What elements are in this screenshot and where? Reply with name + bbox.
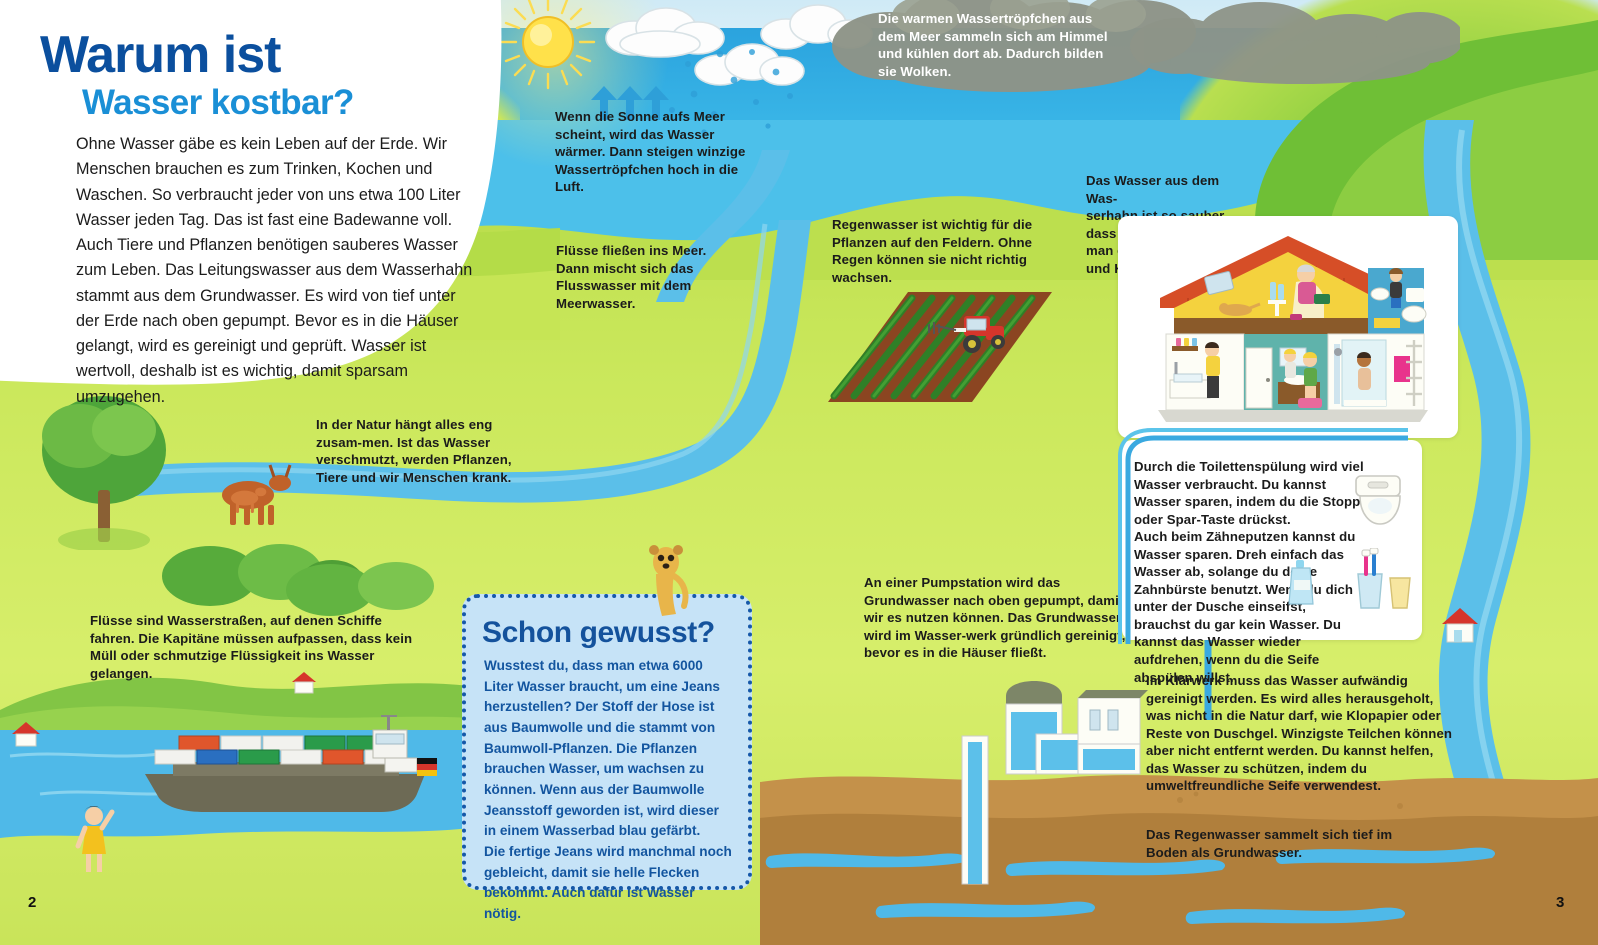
book-spread: Warum ist Wasser kostbar? Ohne Wasser gä… [0,0,1598,945]
caption-ships: Flüsse sind Wasserstraßen, auf denen Sch… [90,612,420,682]
village-house-illustration [8,718,58,748]
container-ship-illustration [145,712,445,822]
did-you-know-title: Schon gewusst? [482,616,748,650]
village-house-illustration [1438,604,1494,646]
caption-evaporation: Wenn die Sonne aufs Meer scheint, wird d… [555,108,765,196]
caption-rain-fields: Regenwasser ist wichtig für die Pflanzen… [832,216,1042,286]
did-you-know-box: Schon gewusst? Wusstest du, dass man etw… [462,594,752,890]
caption-groundwater: Das Regenwasser sammelt sich tief im Bod… [1146,826,1396,861]
soap-bottle-icon [1286,556,1324,608]
intro-paragraph: Ohne Wasser gäbe es kein Leben auf der E… [76,132,480,410]
did-you-know-text: Wusstest du, dass man etwa 6000 Liter Wa… [484,656,734,925]
toilet-icon [1348,470,1412,532]
caption-rivers-to-sea: Flüsse fließen ins Meer. Dann mischt sic… [556,242,736,312]
toothbrush-cup-icon [1348,548,1418,614]
caption-sewage-plant: Im Klärwerk muss das Wasser aufwändig ge… [1146,672,1456,795]
caption-nature: In der Natur hängt alles eng zusam-men. … [316,416,526,486]
page-number-right: 3 [1556,894,1564,911]
girl-waving-illustration [72,800,116,876]
caption-clouds: Die warmen Wassertröpfchen aus dem Meer … [878,10,1118,80]
bush-illustration [280,540,460,620]
cutaway-house-illustration [1128,222,1450,434]
page-title: Warum ist Wasser kostbar? [40,30,460,120]
title-line-2: Wasser kostbar? [82,85,460,120]
meerkat-mascot-illustration [640,540,696,620]
tractor-field-illustration [800,280,1080,410]
rain-cloud-icon [1130,0,1460,90]
caption-house-saving: Durch die Toilettenspülung wird viel Was… [1134,458,1366,686]
title-line-1: Warum ist [40,30,460,81]
page-number-left: 2 [28,894,36,911]
caption-pump-station: An einer Pumpstation wird das Grundwasse… [864,574,1134,662]
